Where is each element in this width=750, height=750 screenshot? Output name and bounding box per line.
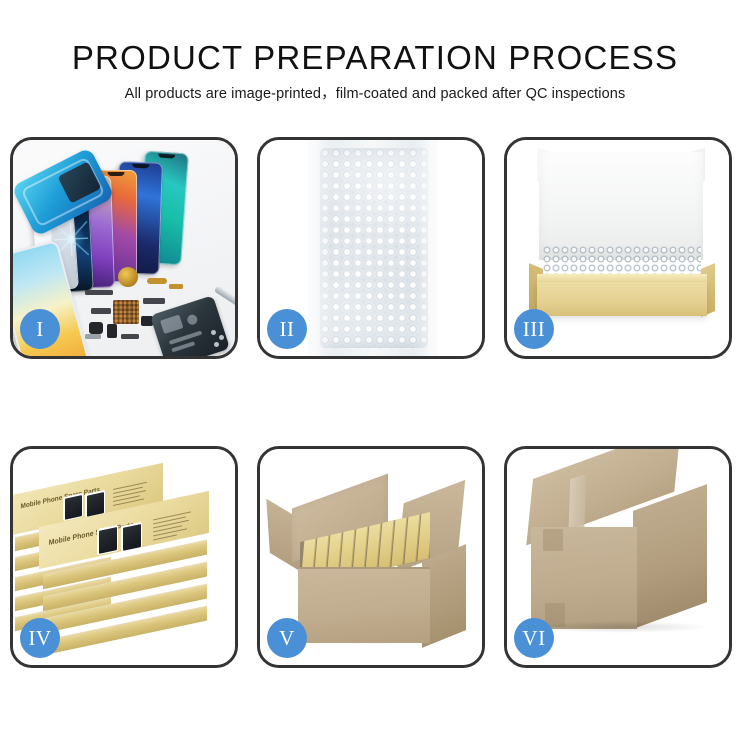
header: PRODUCT PREPARATION PROCESS All products… <box>0 0 750 128</box>
box-product-thumb <box>63 493 83 521</box>
step-panel-5: V <box>257 446 485 668</box>
camera-flex-icon <box>91 308 111 314</box>
step-badge-3: III <box>514 309 554 349</box>
connector-grid-icon <box>113 300 139 324</box>
page-title: PRODUCT PREPARATION PROCESS <box>0 38 750 78</box>
steps-grid: I II III <box>8 137 742 689</box>
phone-back-housing-icon <box>150 295 230 356</box>
flex-cable-icon <box>85 290 113 295</box>
tweezers-tool-icon <box>214 285 235 309</box>
box-product-thumb <box>97 525 118 555</box>
carton-shadow <box>529 621 711 633</box>
step-panel-6: VI <box>504 446 732 668</box>
gold-clip-icon <box>169 284 183 289</box>
kraft-box-front-icon <box>537 282 707 316</box>
product-preparation-infographic: PRODUCT PREPARATION PROCESS All products… <box>0 0 750 750</box>
bubble-pattern <box>320 148 428 348</box>
box-product-thumb <box>121 522 142 552</box>
sealed-carton-front <box>531 527 637 629</box>
white-box-lid-icon <box>539 152 703 260</box>
step-badge-4: IV <box>20 618 60 658</box>
step-panel-2: II <box>257 137 485 359</box>
step-panel-3: III <box>504 137 732 359</box>
spare-parts-group <box>85 268 235 356</box>
step-badge-5: V <box>267 618 307 658</box>
sim-tray-icon <box>107 324 117 338</box>
carton-flap-mark-top <box>543 529 563 551</box>
bubble-wrap-sheet-icon <box>308 140 438 356</box>
page-subtitle: All products are image-printed，film-coat… <box>0 84 750 104</box>
step-badge-1: I <box>20 309 60 349</box>
speaker-module-icon <box>89 322 103 334</box>
button-flex-icon <box>121 334 139 339</box>
step-panel-1: I <box>10 137 238 359</box>
step-badge-2: II <box>267 309 307 349</box>
metal-bracket-icon <box>85 334 101 339</box>
step-panel-4: Mobile Phone Spare Parts Mobile Phone Sp… <box>10 446 238 668</box>
carton-front-panel <box>298 567 430 643</box>
step-badge-6: VI <box>514 618 554 658</box>
vibration-motor-icon <box>118 267 138 287</box>
gold-connector-icon <box>147 278 167 284</box>
antenna-flex-icon <box>143 298 165 304</box>
